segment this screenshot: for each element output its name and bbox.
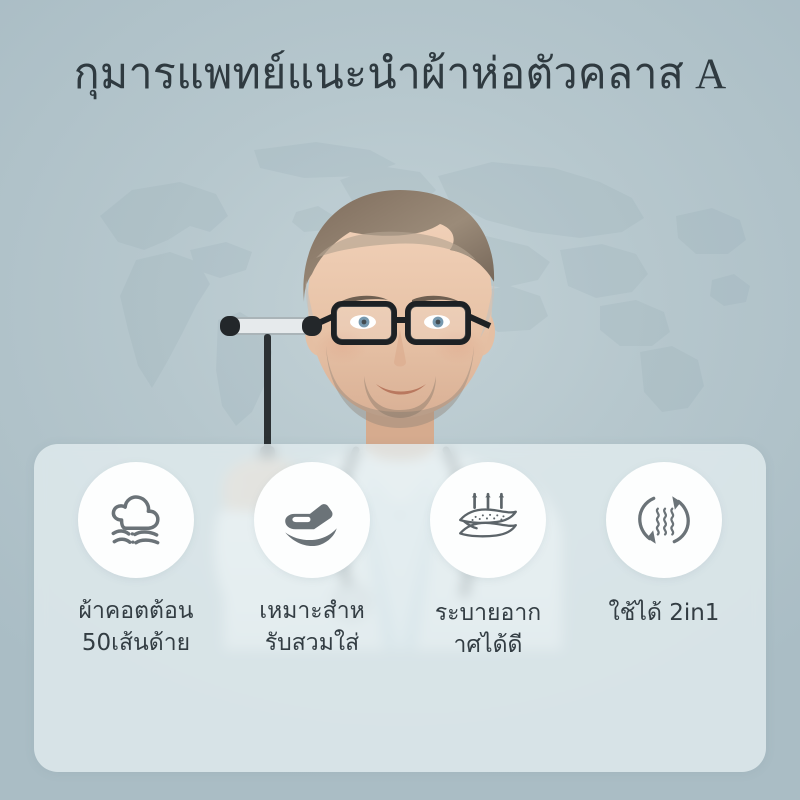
feature-list: ผ้าคอตต้อน 50เส้นด้าย เหมาะสำห รับสวมใส่ <box>34 444 766 772</box>
icon-circle <box>430 462 546 578</box>
product-poster: กุมารแพทย์แนะนำผ้าห่อตัวคลาส A ผ้าคอตต้อ… <box>0 0 800 800</box>
feature-label: ระบายอาก าศได้ดี <box>435 598 541 661</box>
feature-item-2in1[interactable]: ใช้ได้ 2in1 <box>580 462 748 630</box>
feature-label: เหมาะสำห รับสวมใส่ <box>259 596 365 659</box>
feature-item-breathable[interactable]: ระบายอาก าศได้ดี <box>404 462 572 661</box>
reversible-cycle-icon <box>631 487 697 553</box>
feature-label: ใช้ได้ 2in1 <box>609 598 720 630</box>
page-title: กุมารแพทย์แนะนำผ้าห่อตัวคลาส A <box>0 52 800 97</box>
feature-label: ผ้าคอตต้อน 50เส้นด้าย <box>79 596 194 659</box>
feature-item-comfort[interactable]: เหมาะสำห รับสวมใส่ <box>228 462 396 659</box>
icon-circle <box>78 462 194 578</box>
world-map-watermark <box>40 120 770 450</box>
caring-hand-icon <box>279 487 345 553</box>
feature-item-cotton[interactable]: ผ้าคอตต้อน 50เส้นด้าย <box>52 462 220 659</box>
icon-circle <box>254 462 370 578</box>
cloud-soft-icon <box>103 487 169 553</box>
feature-card: ผ้าคอตต้อน 50เส้นด้าย เหมาะสำห รับสวมใส่ <box>34 444 766 772</box>
icon-circle <box>606 462 722 578</box>
breathable-fabric-icon <box>455 487 521 553</box>
